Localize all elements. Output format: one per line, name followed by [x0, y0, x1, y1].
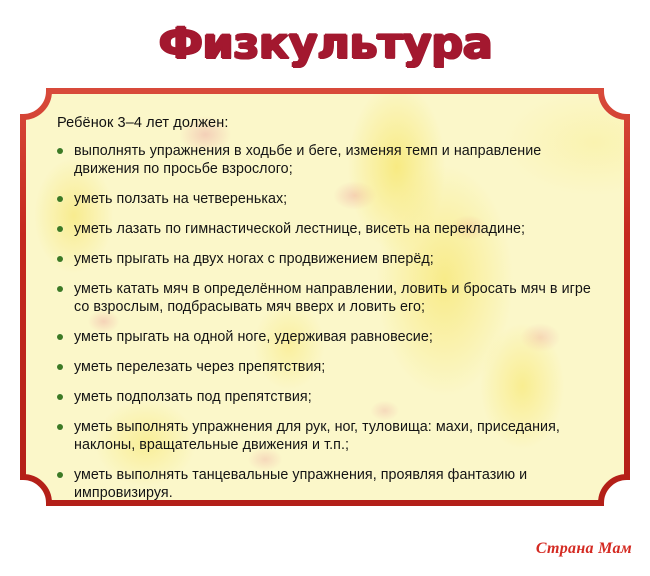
list-item-text: уметь перелезать через препятствия; [74, 359, 325, 375]
bullet-dot-icon [57, 148, 63, 154]
bullet-dot-icon [57, 256, 63, 262]
list-item: выполнять упражнения в ходьбе и беге, из… [45, 142, 602, 178]
list-item-text: уметь прыгать на одной ноге, удерживая р… [74, 329, 433, 345]
bullet-dot-icon [57, 334, 63, 340]
list-item: уметь прыгать на двух ногах с продвижени… [45, 250, 602, 268]
page-title: Физкультура [158, 23, 492, 66]
poster-card: Ребёнок 3–4 лет должен: выполнять упражн… [20, 88, 630, 506]
list-item-text: уметь подползать под препятствия; [74, 389, 312, 405]
bullet-dot-icon [57, 286, 63, 292]
bullet-dot-icon [57, 226, 63, 232]
list-item: уметь катать мяч в определённом направле… [45, 280, 602, 316]
list-item: уметь выполнять танцевальные упражнения,… [45, 466, 602, 502]
site-watermark: Страна Мам [536, 540, 632, 558]
card-content: Ребёнок 3–4 лет должен: выполнять упражн… [20, 88, 630, 506]
bullet-dot-icon [57, 394, 63, 400]
list-item-text: уметь выполнять упражнения для рук, ног,… [74, 419, 560, 453]
title-area: Физкультура [0, 0, 650, 88]
list-item: уметь перелезать через препятствия; [45, 358, 602, 376]
list-item-text: уметь ползать на четвереньках; [74, 191, 287, 207]
bullet-dot-icon [57, 472, 63, 478]
bullet-dot-icon [57, 424, 63, 430]
list-item-text: уметь лазать по гимнастической лестнице,… [74, 221, 525, 237]
list-item: уметь лазать по гимнастической лестнице,… [45, 220, 602, 238]
list-item: уметь ползать на четвереньках; [45, 190, 602, 208]
list-item: уметь прыгать на одной ноге, удерживая р… [45, 328, 602, 346]
list-item-text: уметь выполнять танцевальные упражнения,… [74, 467, 527, 501]
list-item-text: уметь прыгать на двух ногах с продвижени… [74, 251, 434, 267]
bullet-dot-icon [57, 364, 63, 370]
requirements-list: выполнять упражнения в ходьбе и беге, из… [45, 142, 602, 502]
list-item: уметь подползать под препятствия; [45, 388, 602, 406]
bullet-dot-icon [57, 196, 63, 202]
list-item-text: уметь катать мяч в определённом направле… [74, 281, 591, 315]
lead-text: Ребёнок 3–4 лет должен: [57, 114, 602, 132]
list-item: уметь выполнять упражнения для рук, ног,… [45, 418, 602, 454]
list-item-text: выполнять упражнения в ходьбе и беге, из… [74, 143, 541, 177]
